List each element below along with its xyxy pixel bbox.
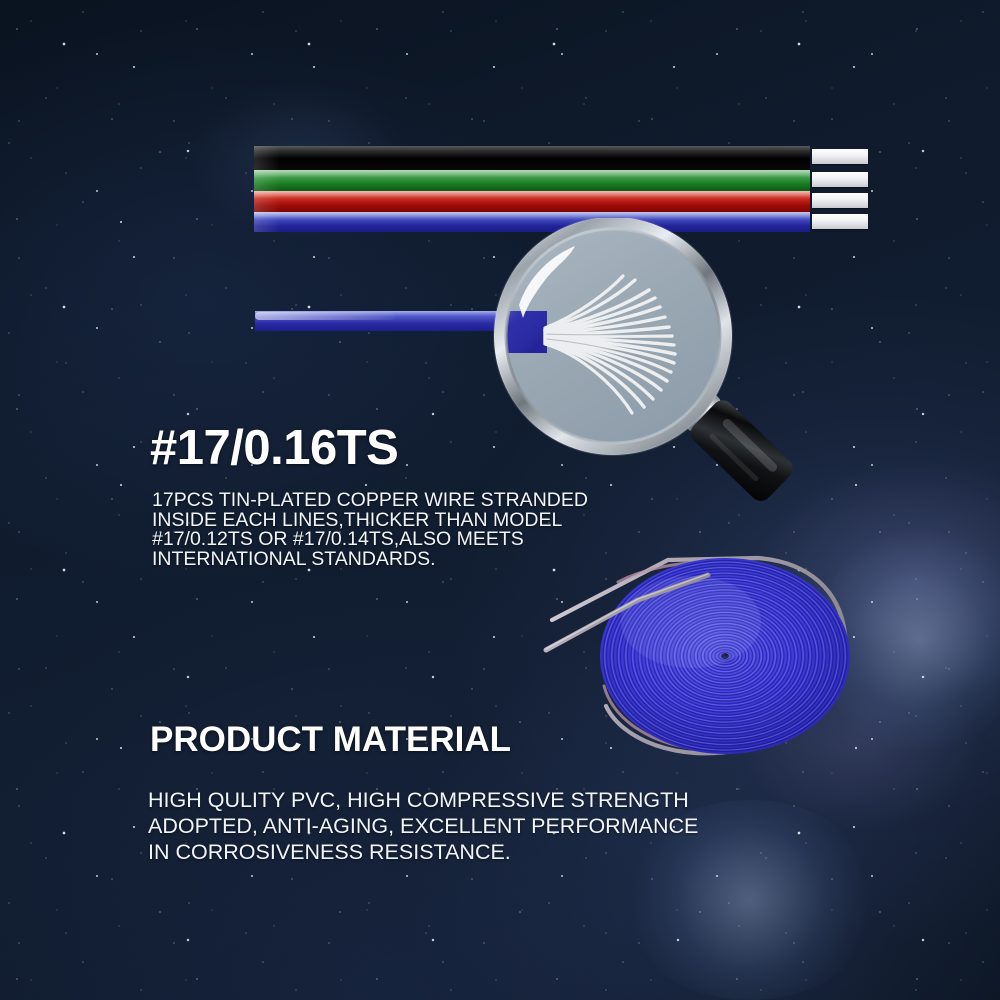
magnifying-glass <box>477 218 827 508</box>
stripped-tip-green <box>812 172 868 187</box>
red-conductor <box>254 191 810 212</box>
material-description-line: HIGH QULITY PVC, HIGH COMPRESSIVE STRENG… <box>148 787 748 813</box>
green-conductor <box>254 170 810 191</box>
model-description-line: #17/0.12TS OR #17/0.14TS,ALSO MEETS <box>152 530 672 550</box>
material-description: HIGH QULITY PVC, HIGH COMPRESSIVE STRENG… <box>148 787 748 865</box>
blue-cable-coil <box>540 538 910 768</box>
stripped-tip-black <box>812 149 868 164</box>
black-conductor <box>254 146 810 170</box>
material-description-line: IN CORROSIVENESS RESISTANCE. <box>148 839 748 865</box>
product-infographic-poster: #17/0.16TS 17PCS TIN-PLATED COPPER WIRE … <box>0 0 1000 1000</box>
material-heading: PRODUCT MATERIAL <box>150 722 511 757</box>
model-description-line: 17PCS TIN-PLATED COPPER WIRE STRANDED <box>152 491 672 511</box>
stripped-tip-red <box>812 193 868 208</box>
model-heading: #17/0.16TS <box>150 424 398 473</box>
model-description-line: INTERNATIONAL STANDARDS. <box>152 550 672 570</box>
model-description: 17PCS TIN-PLATED COPPER WIRE STRANDED IN… <box>152 491 672 569</box>
material-description-line: ADOPTED, ANTI-AGING, EXCELLENT PERFORMAN… <box>148 813 748 839</box>
